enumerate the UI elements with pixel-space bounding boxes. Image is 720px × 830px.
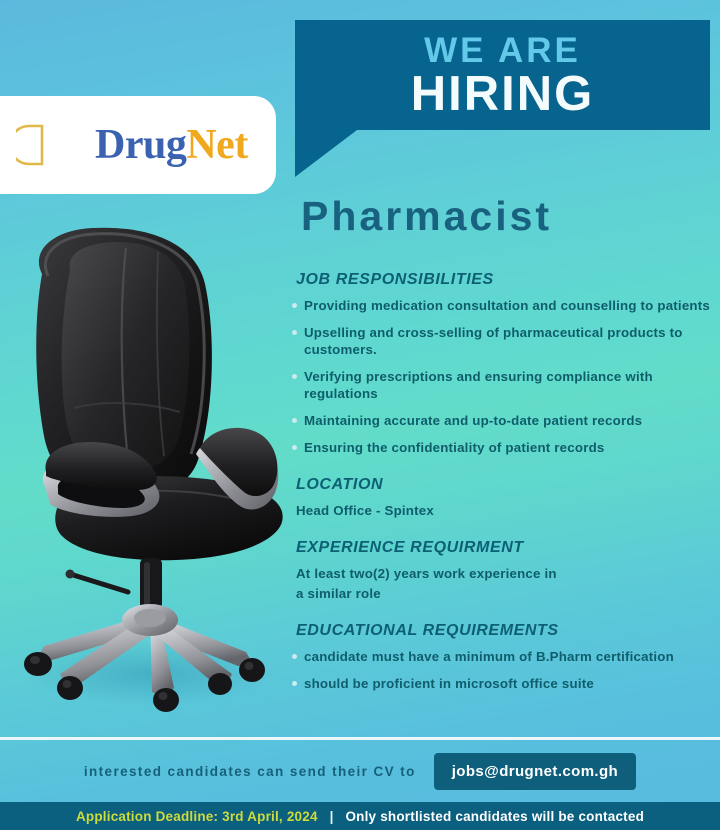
logo-text-drug: D	[95, 122, 125, 168]
email-badge[interactable]: jobs@drugnet.com.gh	[434, 753, 636, 790]
logo-text-drug-rest: rug	[125, 122, 187, 168]
logo-text-net: Net	[186, 122, 247, 168]
hiring-text: HIRING	[411, 70, 595, 119]
we-are-text: WE ARE	[424, 33, 581, 68]
logo: DrugNet	[16, 122, 248, 168]
education-heading: EDUCATIONAL REQUIREMENTS	[296, 622, 720, 640]
shortlist-note: Only shortlisted candidates will be cont…	[345, 809, 644, 824]
list-item: Upselling and cross-selling of pharmaceu…	[288, 324, 720, 358]
hiring-banner-content: WE ARE HIRING	[295, 20, 710, 130]
logo-card: DrugNet	[0, 96, 276, 194]
banner-tail-shape	[295, 130, 357, 177]
list-item: Verifying prescriptions and ensuring com…	[288, 368, 720, 402]
experience-heading: EXPERIENCE REQUIRMENT	[296, 539, 720, 557]
deadline-text: Application Deadline: 3rd April, 2024	[76, 809, 318, 824]
responsibilities-heading: JOB RESPONSIBILITIES	[296, 271, 720, 289]
job-details: Pharmacist JOB RESPONSIBILITIES Providin…	[288, 196, 720, 702]
list-item: Maintaining accurate and up-to-date pati…	[288, 412, 720, 429]
location-value: Head Office - Spintex	[296, 502, 720, 519]
list-item: should be proficient in microsoft office…	[288, 675, 720, 692]
deadline-separator: |	[330, 809, 334, 824]
list-item: Providing medication consultation and co…	[288, 297, 720, 314]
list-item: candidate must have a minimum of B.Pharm…	[288, 648, 720, 665]
hiring-banner: WE ARE HIRING	[295, 20, 710, 130]
responsibilities-list: Providing medication consultation and co…	[288, 297, 720, 456]
education-list: candidate must have a minimum of B.Pharm…	[288, 648, 720, 692]
cv-submission-strip: interested candidates can send their CV …	[0, 740, 720, 802]
deadline-bar: Application Deadline: 3rd April, 2024 | …	[0, 802, 720, 830]
pill-capsule-icon	[16, 122, 94, 168]
job-poster: WE ARE HIRING DrugNet	[0, 0, 720, 830]
office-chair-image	[0, 222, 300, 732]
location-heading: LOCATION	[296, 476, 720, 494]
cv-instruction-text: interested candidates can send their CV …	[84, 764, 416, 779]
job-title: Pharmacist	[301, 196, 720, 237]
experience-value-line1: At least two(2) years work experience in	[296, 565, 720, 582]
list-item: Ensuring the confidentiality of patient …	[288, 439, 720, 456]
logo-text: DrugNet	[95, 124, 248, 166]
experience-value-line2: a similar role	[296, 585, 720, 602]
